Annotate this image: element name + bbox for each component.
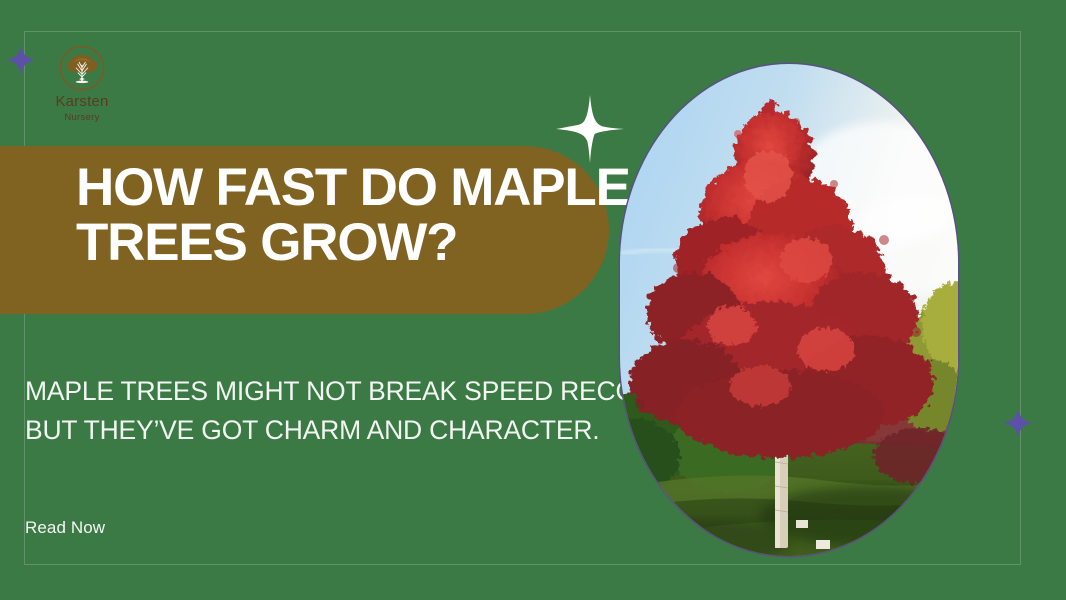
subtitle-line-1: MAPLE TREES MIGHT NOT BREAK SPEED RECORD… [25, 372, 625, 411]
brand-subtitle: Nursery [46, 113, 118, 123]
page-title: HOW FAST DO MAPLE TREES GROW? [76, 160, 616, 270]
maple-tree-illustration [620, 64, 958, 556]
four-point-star-icon [1002, 407, 1034, 439]
subtitle-line-2: BUT THEY’VE GOT CHARM AND CHARACTER. [25, 411, 625, 450]
eight-point-star-icon [556, 95, 624, 163]
headline-line-2: TREES GROW? [76, 215, 616, 270]
read-now-link[interactable]: Read Now [25, 518, 105, 538]
headline-line-1: HOW FAST DO MAPLE [76, 160, 616, 215]
poster-canvas: Karsten Nursery HOW FAST DO MAPLE TREES … [0, 0, 1066, 600]
brand-name: Karsten [46, 94, 118, 111]
maple-tree-photo [620, 64, 958, 556]
brand-logo[interactable]: Karsten Nursery [46, 44, 118, 123]
tree-in-circle-icon [58, 44, 106, 92]
page-subtitle: MAPLE TREES MIGHT NOT BREAK SPEED RECORD… [25, 372, 625, 450]
four-point-star-icon [5, 44, 37, 76]
